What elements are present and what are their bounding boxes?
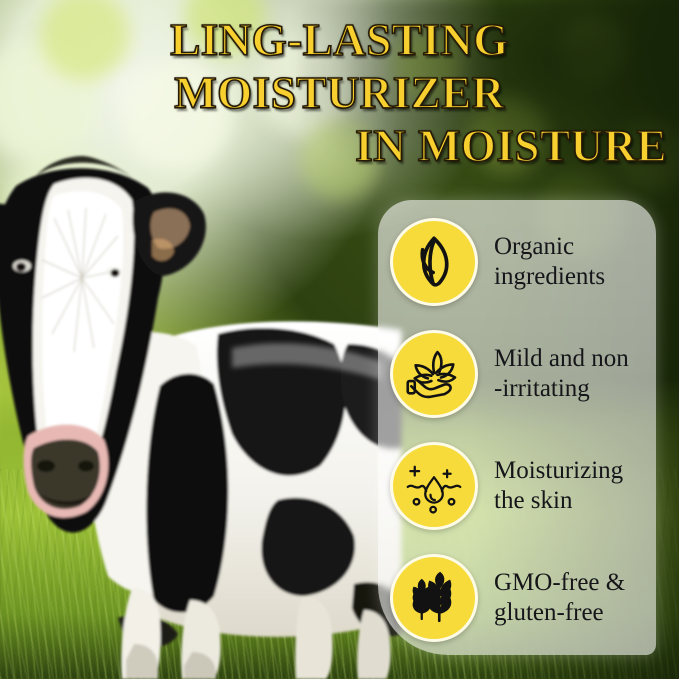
feature-text-line-1: Mild and non [494, 344, 650, 374]
feature-item-mild-non-irritating: Mild and non -irritating [378, 324, 656, 424]
hand-with-leaves-icon [406, 346, 462, 402]
feature-text-line-1: Moisturizing [494, 456, 650, 486]
feature-item-gmo-gluten-free: GMO-free & gluten-free [378, 548, 656, 648]
feature-text: GMO-free & gluten-free [494, 568, 656, 628]
cow-photo [0, 148, 402, 679]
feature-text-line-2: the skin [494, 486, 650, 516]
wheat-icon [406, 570, 462, 626]
feature-text: Organic ingredients [494, 232, 656, 292]
title-line-2: IN MOISTURE [8, 120, 671, 173]
feature-item-organic-ingredients: Organic ingredients [378, 212, 656, 312]
features-panel: Organic ingredients [378, 200, 656, 655]
feature-badge [390, 554, 478, 642]
feature-badge [390, 442, 478, 530]
feature-badge [390, 218, 478, 306]
feature-text-line-2: -irritating [494, 374, 650, 404]
poster-title: LING-LASTING MOISTURIZER IN MOISTURE [0, 14, 679, 173]
feature-item-moisturizing-skin: Moisturizing the skin [378, 436, 656, 536]
feature-text-line-2: ingredients [494, 262, 650, 292]
water-droplet-skin-icon [406, 458, 462, 514]
leaf-icon [406, 234, 462, 290]
feature-text: Moisturizing the skin [494, 456, 656, 516]
feature-text-line-1: GMO-free & [494, 568, 650, 598]
feature-text: Mild and non -irritating [494, 344, 656, 404]
feature-text-line-1: Organic [494, 232, 650, 262]
product-poster: LING-LASTING MOISTURIZER IN MOISTURE Org… [0, 0, 679, 679]
title-line-1: LING-LASTING MOISTURIZER [8, 14, 671, 120]
feature-text-line-2: gluten-free [494, 598, 650, 628]
feature-badge [390, 330, 478, 418]
